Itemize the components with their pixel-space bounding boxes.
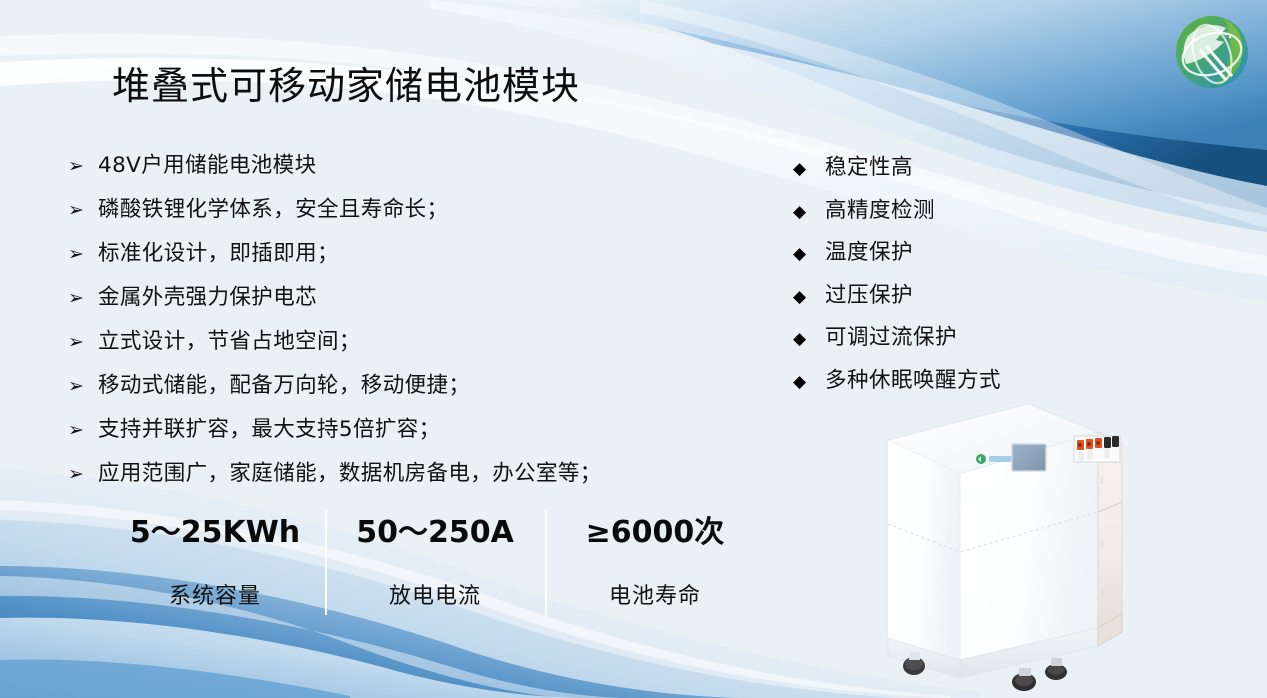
wave-top-mid: [480, 0, 1267, 150]
arrow-bullet-icon: ➢: [68, 289, 98, 308]
stat-capacity: 5～25KWh 系统容量: [105, 510, 325, 615]
list-item: ◆ 温度保护: [793, 235, 1093, 278]
feature-list: ➢ 48V户用储能电池模块 ➢ 磷酸铁锂化学体系，安全且寿命长； ➢ 标准化设计…: [68, 148, 708, 500]
arrow-bullet-icon: ➢: [68, 333, 98, 352]
cabinet-display-screen: [1012, 444, 1046, 471]
specs-summary-bar: 5～25KWh 系统容量 50～250A 放电电流 ≥6000次 电池寿命: [105, 510, 765, 615]
list-item: ➢ 磷酸铁锂化学体系，安全且寿命长；: [68, 192, 708, 236]
diamond-bullet-icon: ◆: [793, 288, 825, 305]
feature-label: 金属外壳强力保护电芯: [98, 280, 317, 311]
diamond-bullet-icon: ◆: [793, 373, 825, 390]
diamond-bullet-icon: ◆: [793, 245, 825, 262]
page-title: 堆叠式可移动家储电池模块: [112, 55, 580, 110]
arrow-bullet-icon: ➢: [68, 245, 98, 264]
protection-label: 高精度检测: [825, 193, 935, 224]
diamond-bullet-icon: ◆: [793, 160, 825, 177]
stat-discharge-current: 50～250A 放电电流: [325, 510, 545, 615]
list-item: ◆ 过压保护: [793, 278, 1093, 321]
list-item: ◆ 高精度检测: [793, 193, 1093, 236]
feature-label: 磷酸铁锂化学体系，安全且寿命长；: [98, 192, 448, 223]
list-item: ➢ 48V户用储能电池模块: [68, 148, 708, 192]
list-item: ➢ 立式设计，节省占地空间；: [68, 324, 708, 368]
list-item: ◆ 稳定性高: [793, 150, 1093, 193]
list-item: ➢ 支持并联扩容，最大支持5倍扩容；: [68, 412, 708, 456]
stat-label: 电池寿命: [545, 548, 765, 610]
list-item: ➢ 应用范围广，家庭储能，数据机房备电，办公室等；: [68, 456, 708, 500]
protection-label: 稳定性高: [825, 150, 913, 181]
feature-label: 移动式储能，配备万向轮，移动便捷；: [98, 368, 470, 399]
stat-cycle-life: ≥6000次 电池寿命: [545, 510, 765, 615]
company-logo: [1164, 6, 1260, 98]
stat-value: 50～250A: [325, 510, 545, 548]
stat-label: 系统容量: [105, 548, 325, 610]
list-item: ◆ 可调过流保护: [793, 320, 1093, 363]
arrow-bullet-icon: ➢: [68, 421, 98, 440]
protection-label: 多种休眠唤醒方式: [825, 363, 1001, 394]
arrow-bullet-icon: ➢: [68, 377, 98, 396]
list-item: ➢ 金属外壳强力保护电芯: [68, 280, 708, 324]
feature-label: 48V户用储能电池模块: [98, 148, 316, 179]
feature-label: 支持并联扩容，最大支持5倍扩容；: [98, 412, 441, 443]
stat-label: 放电电流: [325, 548, 545, 610]
slide-canvas: 堆叠式可移动家储电池模块 ➢ 48V户用储能电池模块 ➢ 磷酸铁锂化学体系，安全…: [0, 0, 1267, 698]
wave-bottom-light: [0, 618, 580, 698]
feature-label: 应用范围广，家庭储能，数据机房备电，办公室等；: [98, 456, 602, 487]
diamond-bullet-icon: ◆: [793, 330, 825, 347]
terminal-panel: [1074, 436, 1120, 462]
stat-value: ≥6000次: [545, 510, 765, 548]
arrow-bullet-icon: ➢: [68, 157, 98, 176]
protection-label: 过压保护: [825, 278, 913, 309]
protection-label: 可调过流保护: [825, 320, 957, 351]
product-photo-battery-cabinet: [876, 392, 1126, 692]
wave-bottom-accent: [0, 659, 350, 698]
arrow-bullet-icon: ➢: [68, 201, 98, 220]
protection-list: ◆ 稳定性高 ◆ 高精度检测 ◆ 温度保护 ◆ 过压保护 ◆ 可调过流保护 ◆ …: [793, 150, 1093, 405]
protection-label: 温度保护: [825, 235, 913, 266]
list-item: ➢ 移动式储能，配备万向轮，移动便捷；: [68, 368, 708, 412]
arrow-bullet-icon: ➢: [68, 465, 98, 484]
diamond-bullet-icon: ◆: [793, 203, 825, 220]
feature-label: 标准化设计，即插即用；: [98, 236, 339, 267]
cabinet-front-panel: [888, 440, 960, 660]
stat-value: 5～25KWh: [105, 510, 325, 548]
feature-label: 立式设计，节省占地空间；: [98, 324, 361, 355]
list-item: ➢ 标准化设计，即插即用；: [68, 236, 708, 280]
